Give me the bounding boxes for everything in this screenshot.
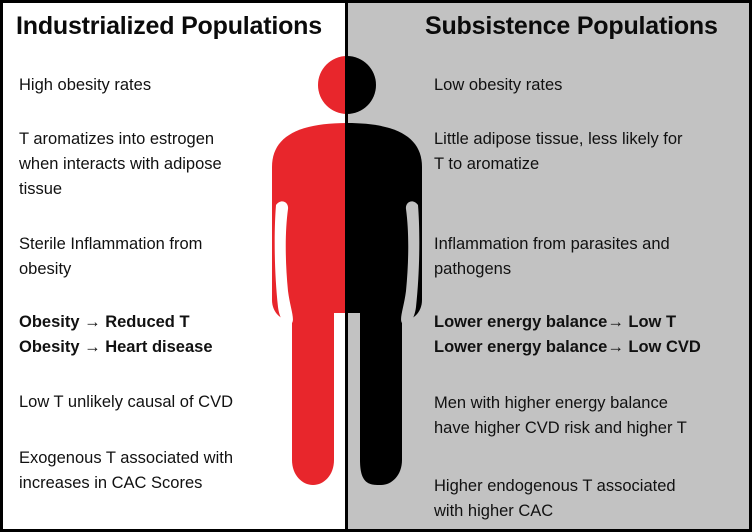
list-item: High obesity rates [19, 73, 319, 98]
bullet-line: when interacts with adipose [19, 152, 329, 177]
list-item: Sterile Inflammation from obesity [19, 232, 319, 282]
list-item: Low obesity rates [434, 73, 749, 98]
bullet-line: obesity [19, 257, 319, 282]
bullet-line: have higher CVD risk and higher T [434, 416, 752, 441]
bullet-line: Men with higher energy balance [434, 391, 752, 416]
bullet-line: Higher endogenous T associated [434, 474, 752, 499]
list-item: Exogenous T associated with increases in… [19, 446, 319, 496]
bullet-line: Exogenous T associated with [19, 446, 319, 471]
list-item: Higher endogenous T associated with high… [434, 474, 752, 524]
subsistence-title: Subsistence Populations [425, 12, 718, 41]
industrialized-title: Industrialized Populations [16, 12, 322, 41]
panel-divider [345, 0, 348, 532]
bullet-line: Inflammation from parasites and [434, 232, 752, 257]
bullet-line: T aromatizes into estrogen [19, 127, 329, 152]
bullet-line: increases in CAC Scores [19, 471, 319, 496]
bullet-line: tissue [19, 177, 329, 202]
list-item: Lower energy balance→ Low T Lower energy… [434, 310, 752, 360]
bullet-line: with higher CAC [434, 499, 752, 524]
bullet-line: Lower energy balance→ Low T [434, 310, 752, 335]
list-item: Obesity → Reduced T Obesity → Heart dise… [19, 310, 319, 360]
comparison-figure: Industrialized Populations High obesity … [0, 0, 752, 532]
list-item: T aromatizes into estrogen when interact… [19, 127, 329, 202]
leg-gap-right [347, 313, 360, 491]
bullet-line: T to aromatize [434, 152, 752, 177]
bullet-line: pathogens [434, 257, 752, 282]
bullet-line: High obesity rates [19, 73, 319, 98]
bullet-line: Low obesity rates [434, 73, 749, 98]
bullet-line: Little adipose tissue, less likely for [434, 127, 752, 152]
list-item: Men with higher energy balance have high… [434, 391, 752, 441]
list-item: Low T unlikely causal of CVD [19, 390, 329, 415]
bullet-line: Low T unlikely causal of CVD [19, 390, 329, 415]
bullet-line: Obesity → Heart disease [19, 335, 319, 360]
list-item: Little adipose tissue, less likely for T… [434, 127, 752, 177]
list-item: Inflammation from parasites and pathogen… [434, 232, 752, 282]
bullet-line: Sterile Inflammation from [19, 232, 319, 257]
bullet-line: Lower energy balance→ Low CVD [434, 335, 752, 360]
bullet-line: Obesity → Reduced T [19, 310, 319, 335]
